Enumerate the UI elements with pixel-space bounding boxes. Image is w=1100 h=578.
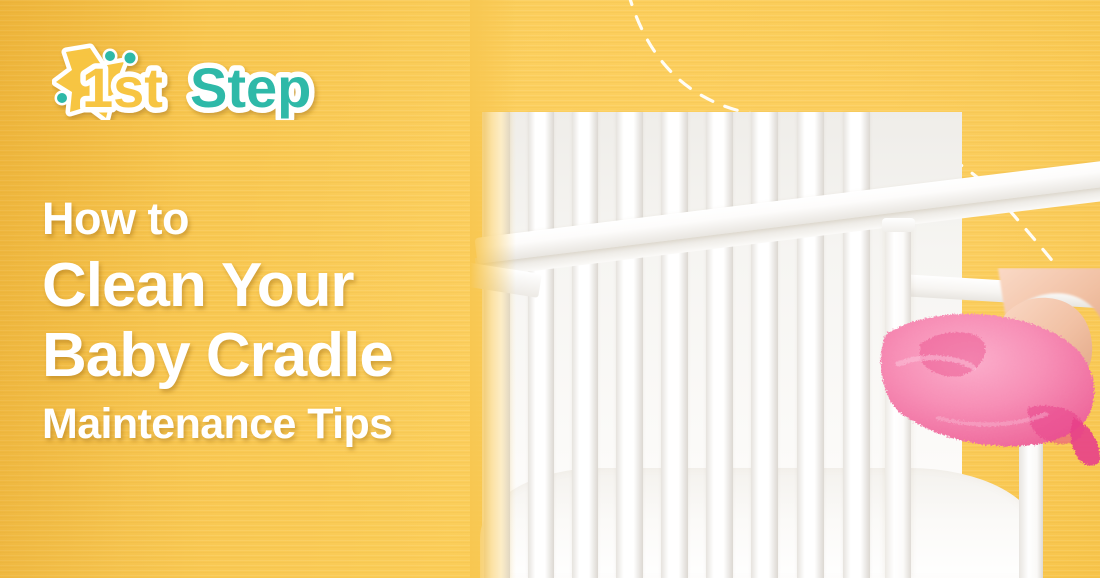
crib-slat — [572, 112, 598, 578]
headline-line-4: Maintenance Tips — [42, 403, 512, 446]
headline-block: How to Clean Your Baby Cradle Maintenanc… — [42, 196, 512, 446]
crib-slat — [616, 112, 643, 578]
logo-text-step: Step — [190, 56, 311, 119]
crib-slat — [661, 112, 688, 578]
crib-slat — [706, 112, 733, 578]
headline-line-1: How to — [42, 196, 512, 241]
crib-slat — [751, 112, 778, 578]
hand-with-cloth — [878, 268, 1100, 468]
crib-slat — [843, 112, 870, 578]
crib-photo — [470, 0, 1100, 578]
logo-text-1st: 1st — [82, 56, 163, 119]
crib-corner-post-cap — [882, 218, 915, 232]
headline-line-3: Baby Cradle — [42, 325, 512, 387]
hero-banner: 1st 1st Step Step How to Clean Your Baby… — [0, 0, 1100, 578]
cloth-hanging-corner — [1071, 418, 1100, 466]
crib-slat — [528, 112, 554, 578]
headline-line-2: Clean Your — [42, 255, 512, 317]
brand-logo[interactable]: 1st 1st Step Step — [52, 42, 348, 120]
crib-slat — [797, 112, 824, 578]
